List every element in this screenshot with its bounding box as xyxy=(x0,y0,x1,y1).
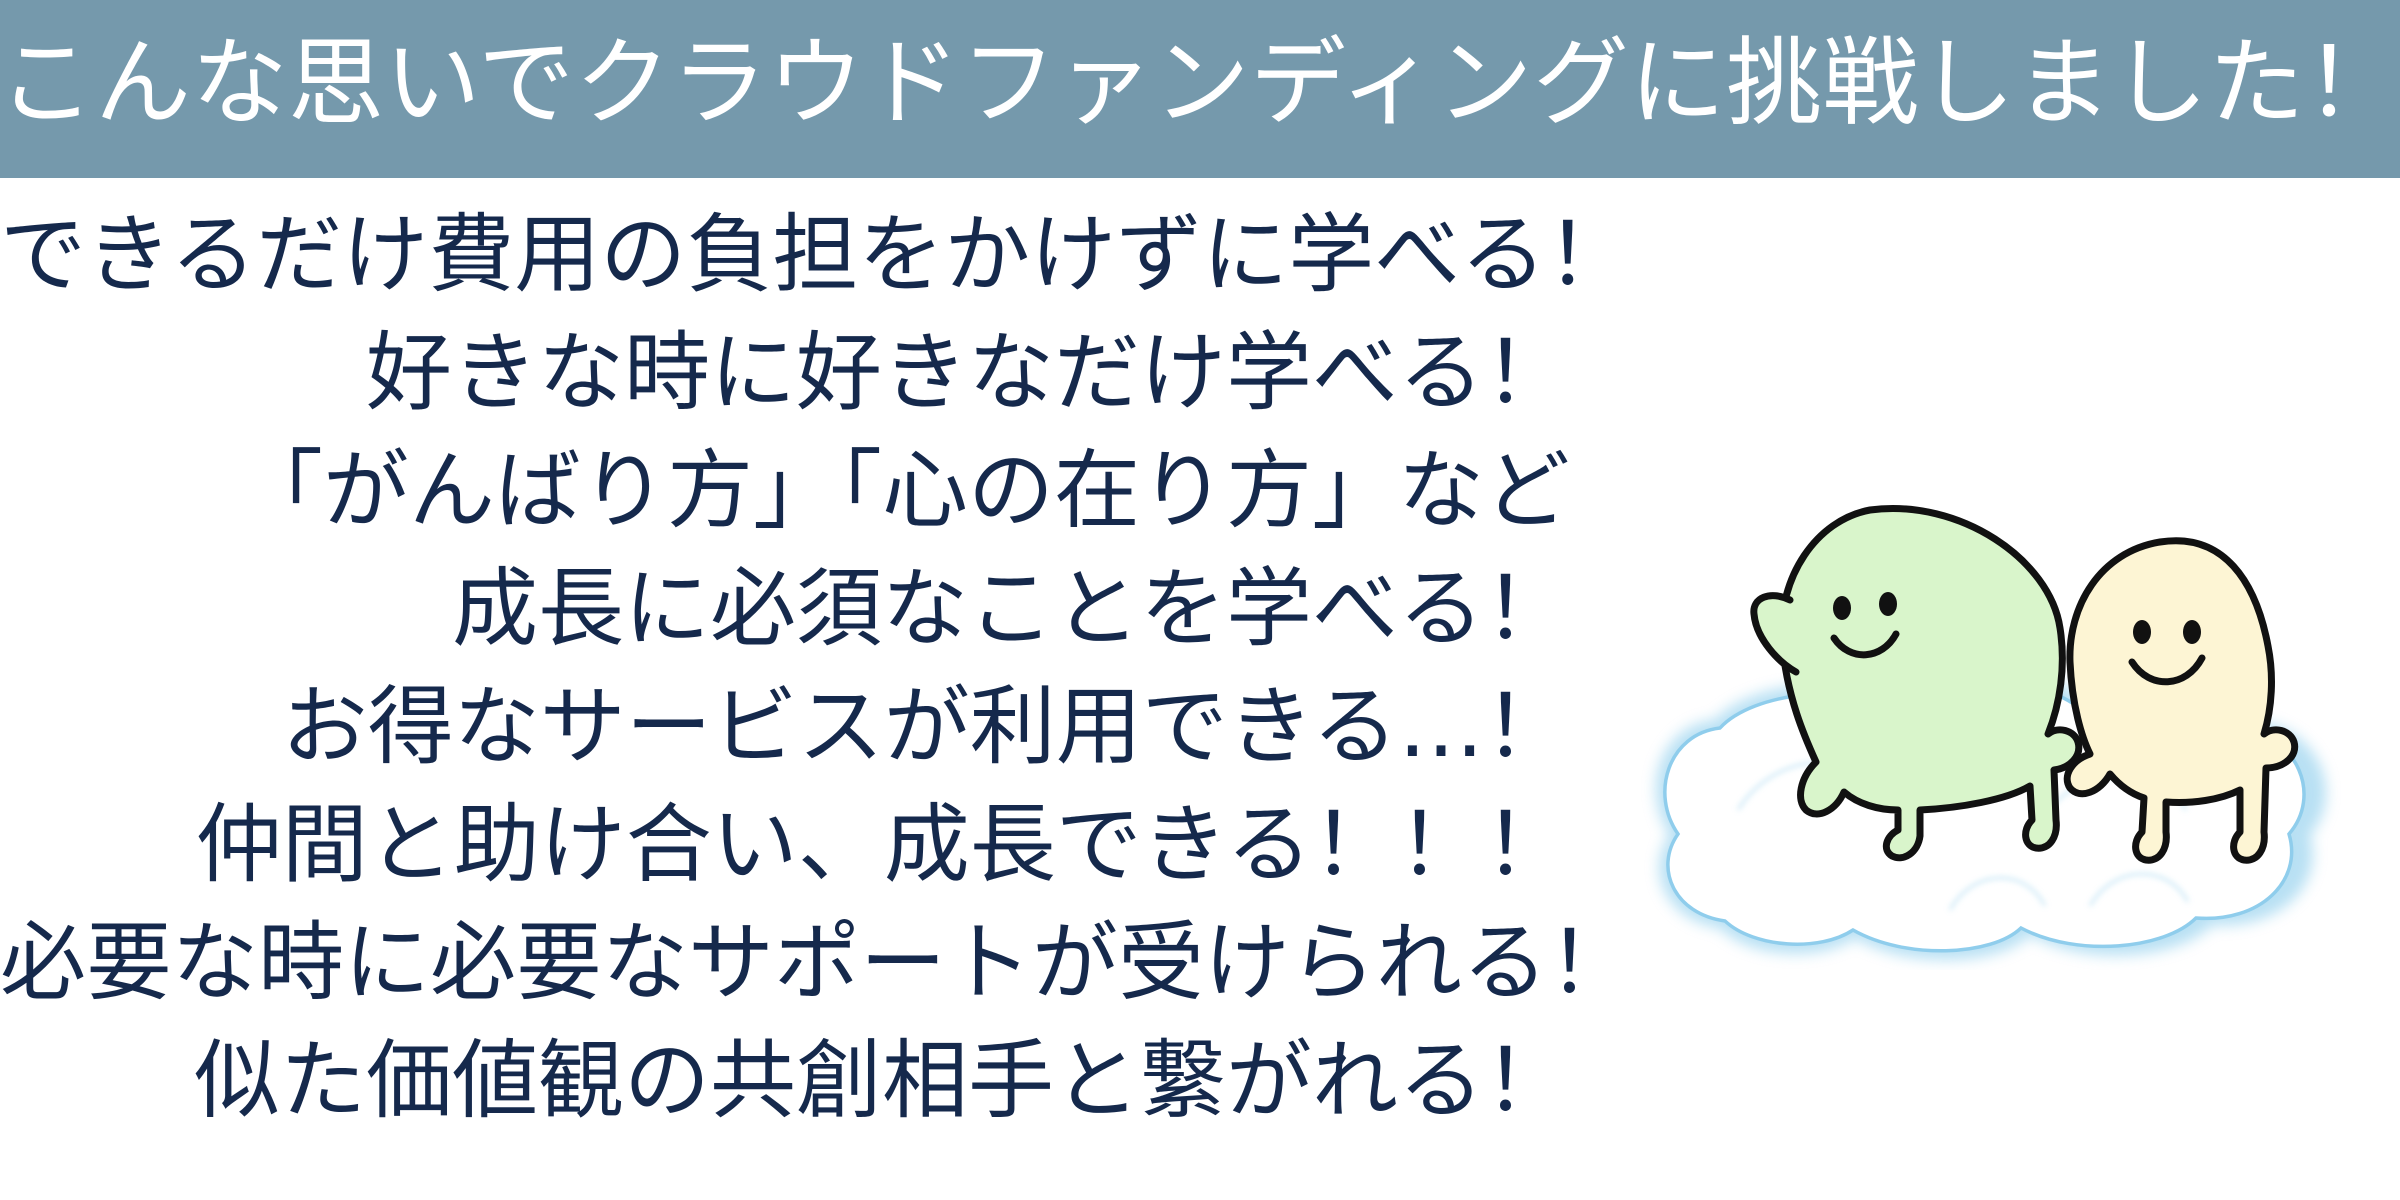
green-eye-left xyxy=(1833,596,1851,620)
slide-root: こんな思いでクラウドファンディングに挑戦しました！ できるだけ費用の負担をかけず… xyxy=(0,0,2400,1200)
body-line-1: できるだけ費用の負担をかけずに学べる！ xyxy=(0,196,1570,314)
body-line-5: お得なサービスが利用できる…！ xyxy=(0,668,1570,786)
body-line-6: 仲間と助け合い、成長できる！！！ xyxy=(0,786,1570,904)
header-band: こんな思いでクラウドファンディングに挑戦しました！ xyxy=(0,0,2400,178)
cream-eye-left xyxy=(2133,620,2151,644)
body-line-3: 「がんばり方」「心の在り方」など xyxy=(0,432,1570,550)
green-blob-character xyxy=(1754,509,2079,858)
cloud-characters-illustration xyxy=(1620,390,2380,970)
green-eye-right xyxy=(1879,592,1897,616)
page-title: こんな思いでクラウドファンディングに挑戦しました！ xyxy=(0,33,2400,134)
cream-eye-right xyxy=(2183,620,2201,644)
body-text-block: できるだけ費用の負担をかけずに学べる！ 好きな時に好きなだけ学べる！ 「がんばり… xyxy=(0,196,1570,1140)
body-line-8: 似た価値観の共創相手と繋がれる！ xyxy=(0,1022,1570,1140)
body-line-7: 必要な時に必要なサポートが受けられる！ xyxy=(0,904,1570,1022)
body-line-4: 成長に必須なことを学べる！ xyxy=(0,550,1570,668)
body-line-2: 好きな時に好きなだけ学べる！ xyxy=(0,314,1570,432)
